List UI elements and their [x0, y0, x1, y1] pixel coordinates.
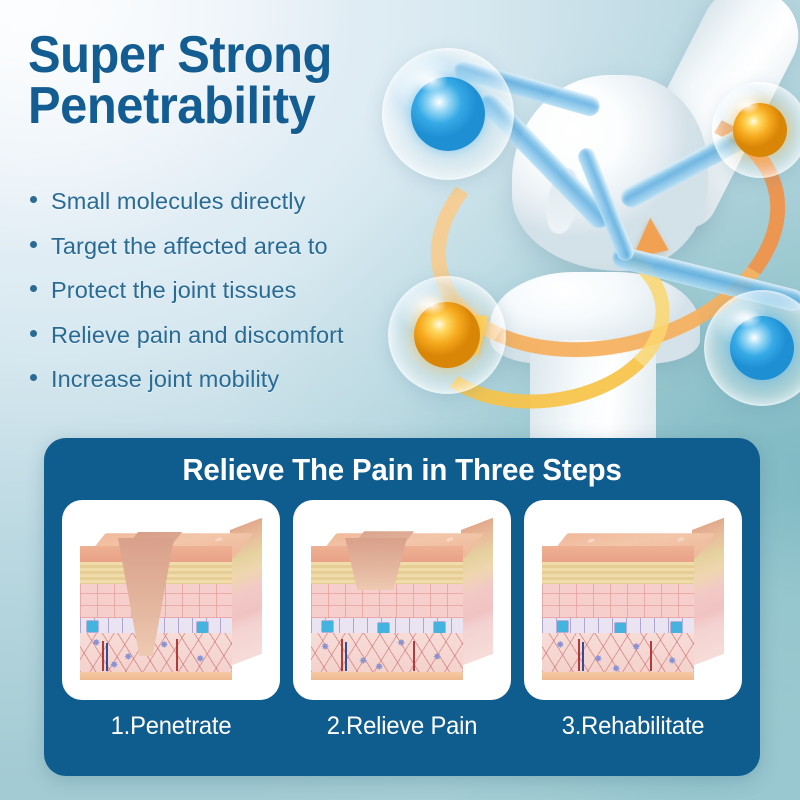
gold-molecule-top-right	[712, 82, 800, 178]
page-title: Super Strong Penetrability	[28, 30, 404, 132]
bullet-dot-icon	[30, 285, 37, 292]
molecule-highlight	[414, 69, 448, 91]
fibroblast-cell: ✸	[397, 639, 405, 649]
benefit-text: Small molecules directly	[51, 190, 305, 214]
melanocyte-cell	[321, 620, 334, 633]
molecule-highlight	[732, 309, 762, 329]
step-1-label: 1.Penetrate	[67, 712, 274, 741]
blood-vessel	[341, 639, 343, 671]
stratum-corneum-layer	[542, 562, 694, 584]
benefit-list: Small molecules directly Target the affe…	[30, 190, 430, 413]
steps-panel-title: Relieve The Pain in Three Steps	[62, 452, 742, 488]
page-title-line-2: Penetrability	[28, 81, 404, 132]
step-3: ✸ ✸ ✸ ✸ ✸ 3.Re	[524, 500, 742, 741]
fibroblast-cell: ✸	[160, 641, 168, 651]
blood-vessel	[582, 642, 584, 671]
step-3-label: 3.Rehabilitate	[529, 712, 736, 741]
steps-panel: Relieve The Pain in Three Steps	[44, 438, 760, 776]
bullet-dot-icon	[30, 196, 37, 203]
hypodermis-layer	[80, 672, 232, 680]
step-1-card: ✸ ✸ ✸ ✸ ✸	[62, 500, 280, 700]
stratum-spinosum-layer	[542, 584, 694, 618]
fibroblast-cell: ✸	[196, 655, 204, 665]
hypodermis-layer	[311, 672, 463, 680]
blood-vessel	[106, 643, 108, 671]
cell-grid-texture	[542, 584, 694, 618]
fibroblast-cell: ✸	[92, 639, 100, 649]
bullet-dot-icon	[30, 330, 37, 337]
fibroblast-cell: ✸	[110, 661, 118, 671]
fibroblast-cell: ✸	[359, 657, 367, 667]
dermis-layer: ✸ ✸ ✸ ✸ ✸	[542, 633, 694, 672]
melanocyte-cell	[556, 620, 569, 633]
list-item: Relieve pain and discomfort	[30, 324, 430, 348]
benefit-text: Protect the joint tissues	[51, 279, 296, 303]
step-2-label: 2.Relieve Pain	[298, 712, 505, 741]
fibroblast-cell: ✸	[433, 653, 441, 663]
blood-vessel	[102, 641, 104, 671]
dermis-layer: ✸ ✸ ✸ ✸ ✸	[80, 633, 232, 672]
fibroblast-cell: ✸	[668, 657, 676, 667]
blood-vessel	[650, 641, 652, 671]
list-item: Target the affected area to	[30, 235, 430, 259]
list-item: Small molecules directly	[30, 190, 430, 214]
step-1: ✸ ✸ ✸ ✸ ✸	[62, 500, 280, 741]
fibroblast-cell: ✸	[321, 643, 329, 653]
fibroblast-cell: ✸	[556, 641, 564, 651]
steps-row: ✸ ✸ ✸ ✸ ✸	[62, 500, 742, 741]
step-3-card: ✸ ✸ ✸ ✸ ✸	[524, 500, 742, 700]
dermis-layer: ✸ ✸ ✸ ✸ ✸	[311, 633, 463, 672]
melanocyte-cell	[86, 620, 99, 633]
bullet-dot-icon	[30, 241, 37, 248]
list-item: Increase joint mobility	[30, 368, 430, 392]
step-2-card: ✸ ✸ ✸ ✸ ✸	[293, 500, 511, 700]
fibroblast-cell: ✸	[594, 655, 602, 665]
skin-front-face: ✸ ✸ ✸ ✸ ✸	[542, 546, 694, 672]
skin-cross-section-penetrate: ✸ ✸ ✸ ✸ ✸	[80, 516, 262, 686]
fibroblast-cell: ✸	[632, 643, 640, 653]
blood-vessel	[413, 641, 415, 671]
blood-vessel	[345, 642, 347, 671]
fibroblast-cell: ✸	[124, 653, 132, 663]
bullet-dot-icon	[30, 374, 37, 381]
molecule-highlight	[735, 97, 760, 113]
skin-front-face: ✸ ✸ ✸ ✸ ✸	[311, 546, 463, 672]
blood-vessel	[578, 639, 580, 671]
infographic-page: Super Strong Penetrability Small molecul…	[0, 0, 800, 800]
benefit-text: Target the affected area to	[51, 235, 328, 259]
skin-cross-section-relieve: ✸ ✸ ✸ ✸ ✸	[311, 516, 493, 686]
step-2: ✸ ✸ ✸ ✸ ✸	[293, 500, 511, 741]
benefit-text: Relieve pain and discomfort	[51, 324, 344, 348]
skin-cross-section-rehabilitated: ✸ ✸ ✸ ✸ ✸	[542, 516, 724, 686]
hypodermis-layer	[542, 672, 694, 680]
skin-front-face: ✸ ✸ ✸ ✸ ✸	[80, 546, 232, 672]
blood-vessel	[176, 639, 178, 671]
benefit-text: Increase joint mobility	[51, 368, 279, 392]
list-item: Protect the joint tissues	[30, 279, 430, 303]
page-title-line-1: Super Strong	[28, 26, 332, 84]
epidermis-layer	[542, 546, 694, 562]
